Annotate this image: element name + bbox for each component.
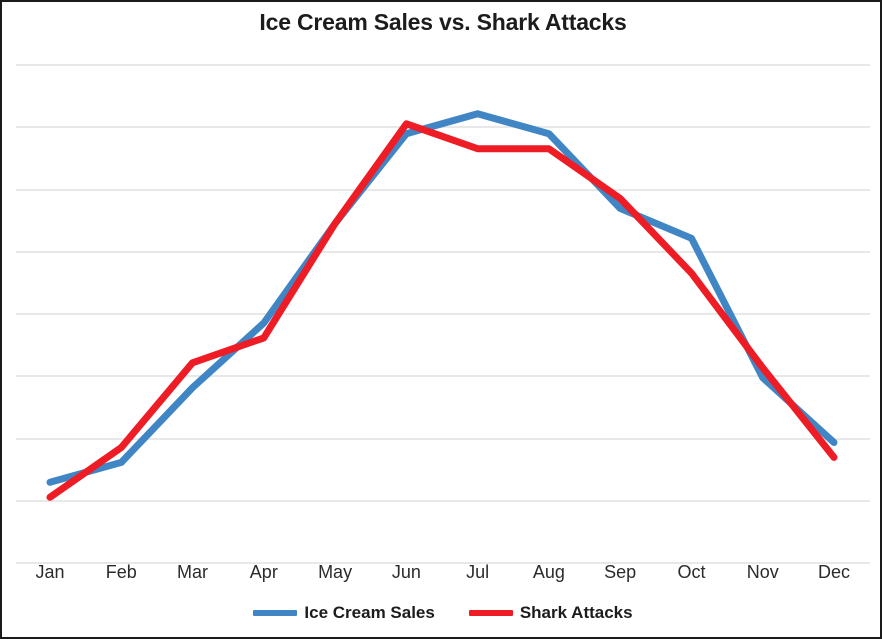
x-tick-label-mar: Mar xyxy=(153,562,233,583)
legend-item[interactable]: Ice Cream Sales xyxy=(253,603,434,623)
chart-title: Ice Cream Sales vs. Shark Attacks xyxy=(2,9,882,36)
series-line-ice-cream-sales xyxy=(50,114,834,483)
line-swatch-blue xyxy=(253,610,297,616)
x-tick-label-oct: Oct xyxy=(651,562,731,583)
x-tick-label-jan: Jan xyxy=(10,562,90,583)
x-tick-label-jul: Jul xyxy=(438,562,518,583)
line-swatch-red xyxy=(469,610,513,616)
x-tick-label-aug: Aug xyxy=(509,562,589,583)
x-tick-label-apr: Apr xyxy=(224,562,304,583)
series-lines-group xyxy=(16,57,870,562)
x-tick-label-nov: Nov xyxy=(723,562,803,583)
x-tick-label-jun: Jun xyxy=(366,562,446,583)
chart-container: Ice Cream Sales vs. Shark Attacks JanFeb… xyxy=(0,0,882,639)
series-line-shark-attacks xyxy=(50,124,834,498)
plot-area xyxy=(16,57,870,562)
legend-label: Shark Attacks xyxy=(520,603,633,623)
x-tick-label-dec: Dec xyxy=(794,562,874,583)
x-tick-label-sep: Sep xyxy=(580,562,660,583)
x-tick-label-may: May xyxy=(295,562,375,583)
legend-item[interactable]: Shark Attacks xyxy=(469,603,633,623)
x-axis-labels: JanFebMarAprMayJunJulAugSepOctNovDec xyxy=(16,562,870,592)
legend-label: Ice Cream Sales xyxy=(304,603,434,623)
x-tick-label-feb: Feb xyxy=(81,562,161,583)
chart-legend: Ice Cream SalesShark Attacks xyxy=(2,603,882,623)
